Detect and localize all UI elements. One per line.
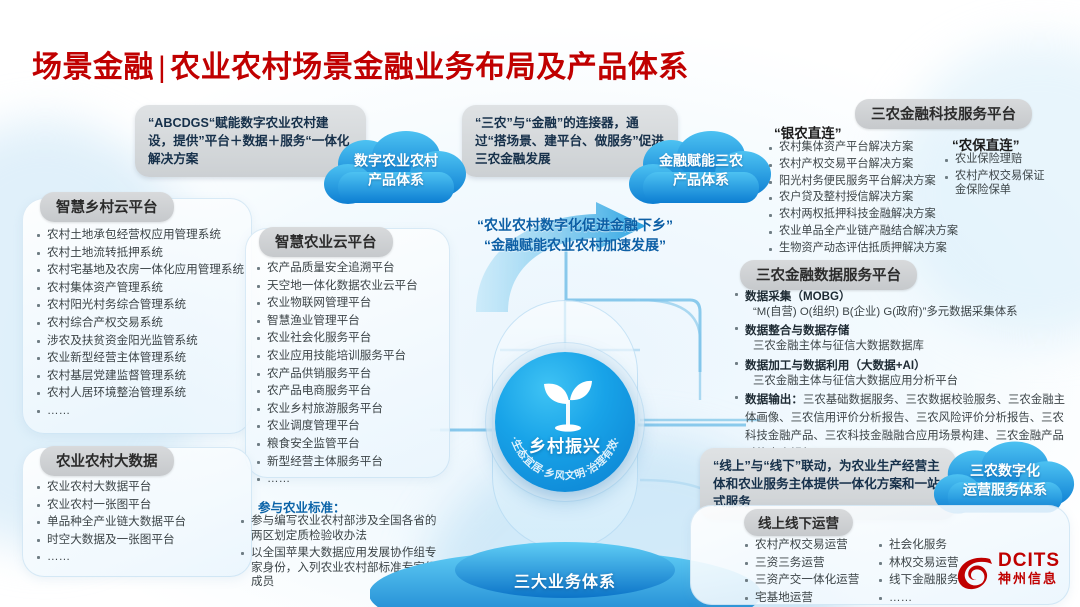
list-item: 农村集体资产管理系统 (36, 281, 244, 296)
list-item: 新型经营主体服务平台 (256, 455, 418, 470)
center-circle-rural-revitalization[interactable]: 产业兴旺·生态宜居·乡风文明·治理有效·生活富裕 乡村振兴 (495, 352, 635, 492)
fintech-col1-title-text: “银农直连” (774, 126, 842, 141)
list-fintech-insurance-direct: 农业保险理赔 农村产权交易保证金保险保单 (944, 153, 1054, 200)
list-item: 农村产权交易保证金保险保单 (944, 170, 1054, 198)
fintech-col1-title: “银农直连” (774, 122, 842, 142)
list-item: …… (256, 472, 418, 487)
list-online-offline-col2: 社会化服务 林权交易运营 线下金融服务 …… (878, 538, 959, 607)
fin-data-value: 三农金融主体与征信大数据应用分析平台 (745, 374, 1074, 388)
panel-big-data-title-text: 农业农村大数据 (56, 454, 158, 470)
list-item: 生物资产动态评估抵质押解决方案 (768, 242, 958, 256)
list-item: 数据采集（MOBG） “M(自营) O(组织) B(企业) G(政府)”多元数据… (734, 287, 1074, 319)
list-fintech-bank-direct: 农村集体资产平台解决方案 农村产权交易平台解决方案 阳光村务便民服务平台解决方案… (768, 141, 958, 275)
brand-logo: DCITS 神州信息 (954, 547, 1072, 599)
list-item: 农村综合产权交易系统 (36, 316, 244, 331)
list-item: 农村人居环境整治管理系统 (36, 386, 244, 401)
list-item: 农业物联网管理平台 (256, 296, 418, 311)
list-item: 天空地一体化数据农业云平台 (256, 279, 418, 294)
list-item: 农业保险理赔 (944, 153, 1054, 167)
panel-smart-agriculture-title-text: 智慧农业云平台 (275, 235, 377, 251)
logo-text: DCITS 神州信息 (998, 551, 1060, 587)
cloud-digital-agriculture-line2: 产品体系 (320, 171, 472, 190)
list-item: 农村产权交易运营 (744, 538, 859, 553)
cloud-finance-empower-line1: 金融赋能三农 (625, 152, 777, 171)
page-title: 场景金融|农业农村场景金融业务布局及产品体系 (32, 42, 689, 86)
list-item: 社会化服务 (878, 538, 959, 553)
list-item: 线下金融服务 (878, 573, 959, 588)
logo-main: DCITS (998, 551, 1060, 571)
panel-fin-data-title-text: 三农金融数据服务平台 (756, 268, 901, 284)
panel-smart-village-title-text: 智慧乡村云平台 (56, 200, 158, 216)
list-item: 数据整合与数据存储 三农金融主体与征信大数据数据库 (734, 321, 1074, 353)
list-item: 参与编写农业农村部涉及全国各省的两区划定质检验收办法 (240, 514, 440, 543)
list-item: 农业乡村旅游服务平台 (256, 402, 418, 417)
list-item: 农村宅基地及农房一体化应用管理系统 (36, 263, 244, 278)
list-item: …… (36, 550, 186, 565)
center-slogan-line2: “金融赋能农业农村加速发展” (450, 235, 700, 255)
cloud-finance-empower-line2: 产品体系 (625, 171, 777, 190)
center-circle-label: 乡村振兴 (495, 432, 635, 457)
title-prefix: 场景金融 (32, 51, 154, 84)
list-item: 农产品质量安全追溯平台 (256, 261, 418, 276)
list-item: …… (36, 404, 244, 419)
list-item: 农村集体资产平台解决方案 (768, 141, 958, 155)
list-item: 时空大数据及一张图平台 (36, 533, 186, 548)
list-item: 智慧渔业管理平台 (256, 314, 418, 329)
list-item: …… (878, 591, 959, 606)
center-slogan-line1: “农业农村数字化促进金融下乡” (450, 215, 700, 235)
list-item: 农业新型经营主体管理系统 (36, 351, 244, 366)
list-item: 农村阳光村务综合管理系统 (36, 298, 244, 313)
list-item: 农产品供销服务平台 (256, 367, 418, 382)
fin-data-key: 数据整合与数据存储 (745, 324, 849, 337)
fin-data-value: “M(自营) O(组织) B(企业) G(政府)”多元数据采集体系 (745, 305, 1074, 319)
fintech-col2-title-text: “农保直连” (952, 138, 1020, 153)
swoosh-icon (954, 551, 998, 595)
panel-fin-data-title: 三农金融数据服务平台 (740, 260, 917, 290)
cloud-digital-operations-line1: 三农数字化 (930, 462, 1080, 481)
list-smart-village: 农村土地承包经营权应用管理系统 农村土地流转抵押系统 农村宅基地及农房一体化应用… (36, 228, 244, 422)
list-item: 阳光村务便民服务平台解决方案 (768, 175, 958, 189)
title-main: 农业农村场景金融业务布局及产品体系 (170, 51, 689, 84)
panel-online-offline-title-text: 线上线下运营 (758, 516, 839, 531)
list-item: 数据加工与数据利用（大数据+AI） 三农金融主体与征信大数据应用分析平台 (734, 356, 1074, 388)
list-item: 涉农及扶贫资金阳光监管系统 (36, 334, 244, 349)
logo-sub: 神州信息 (998, 571, 1060, 587)
list-item: 农业应用技能培训服务平台 (256, 349, 418, 364)
title-divider: | (154, 51, 170, 84)
list-item: 农产品电商服务平台 (256, 384, 418, 399)
list-big-data: 农业农村大数据平台 农业农村一张图平台 单品种全产业链大数据平台 时空大数据及一… (36, 480, 186, 568)
list-item: 单品种全产业链大数据平台 (36, 515, 186, 530)
list-item: 农户贷及整村授信解决方案 (768, 191, 958, 205)
list-item: 三资产交一体化运营 (744, 573, 859, 588)
list-item: 农业农村大数据平台 (36, 480, 186, 495)
list-item: 农村基层党建监督管理系统 (36, 369, 244, 384)
fintech-col2-title: “农保直连” (952, 134, 1020, 154)
list-item: 三资三务运营 (744, 556, 859, 571)
center-slogan: “农业农村数字化促进金融下乡” “金融赋能农业农村加速发展” (450, 215, 700, 255)
list-fin-data: 数据采集（MOBG） “M(自营) O(组织) B(企业) G(政府)”多元数据… (734, 287, 1074, 464)
list-item: 农村产权交易平台解决方案 (768, 158, 958, 172)
list-item: 农村土地流转抵押系统 (36, 246, 244, 261)
panel-fintech-title-text: 三农金融科技服务平台 (871, 107, 1016, 123)
list-online-offline-col1: 农村产权交易运营 三资三务运营 三资产交一体化运营 宅基地运营 (744, 538, 859, 607)
list-item: 林权交易运营 (878, 556, 959, 571)
cloud-digital-agriculture[interactable]: 数字农业农村 产品体系 (320, 130, 472, 215)
list-item: 农业单品全产业链产融结合解决方案 (768, 225, 958, 239)
standards-title-text: 参与农业标准： (258, 501, 346, 515)
fin-data-key: 数据采集（MOBG） (745, 290, 851, 303)
cloud-digital-agriculture-line1: 数字农业农村 (320, 152, 472, 171)
fin-data-key: 数据加工与数据利用（大数据+AI） (745, 359, 926, 372)
panel-online-offline-title: 线上线下运营 (744, 509, 853, 536)
panel-smart-village-title: 智慧乡村云平台 (40, 192, 174, 222)
list-item: 农村土地承包经营权应用管理系统 (36, 228, 244, 243)
poster-canvas: 场景金融|农业农村场景金融业务布局及产品体系 “ABCDGS“赋能数字农业农村建… (0, 0, 1080, 607)
list-item: 农业农村一张图平台 (36, 498, 186, 513)
fin-data-key: 数据输出： (745, 393, 803, 406)
panel-big-data-title: 农业农村大数据 (40, 446, 174, 476)
list-item: 农村两权抵押科技金融解决方案 (768, 208, 958, 222)
list-item: 农业社会化服务平台 (256, 331, 418, 346)
panel-smart-agriculture-title: 智慧农业云平台 (259, 227, 393, 257)
list-item: 粮食安全监管平台 (256, 437, 418, 452)
list-smart-agriculture: 农产品质量安全追溯平台 天空地一体化数据农业云平台 农业物联网管理平台 智慧渔业… (256, 261, 418, 490)
list-item: 农业调度管理平台 (256, 419, 418, 434)
list-item: 宅基地运营 (744, 591, 859, 606)
sprout-icon (539, 374, 593, 432)
callout-online-offline-text: “线上”与“线下”联动，为农业生产经营主体和农业服务主体提供一体化方案和一站式服… (713, 459, 940, 509)
cloud-digital-operations-line2: 运营服务体系 (930, 481, 1080, 500)
fin-data-value: 三农金融主体与征信大数据数据库 (745, 339, 1074, 353)
panel-fintech-title: 三农金融科技服务平台 (855, 99, 1032, 129)
